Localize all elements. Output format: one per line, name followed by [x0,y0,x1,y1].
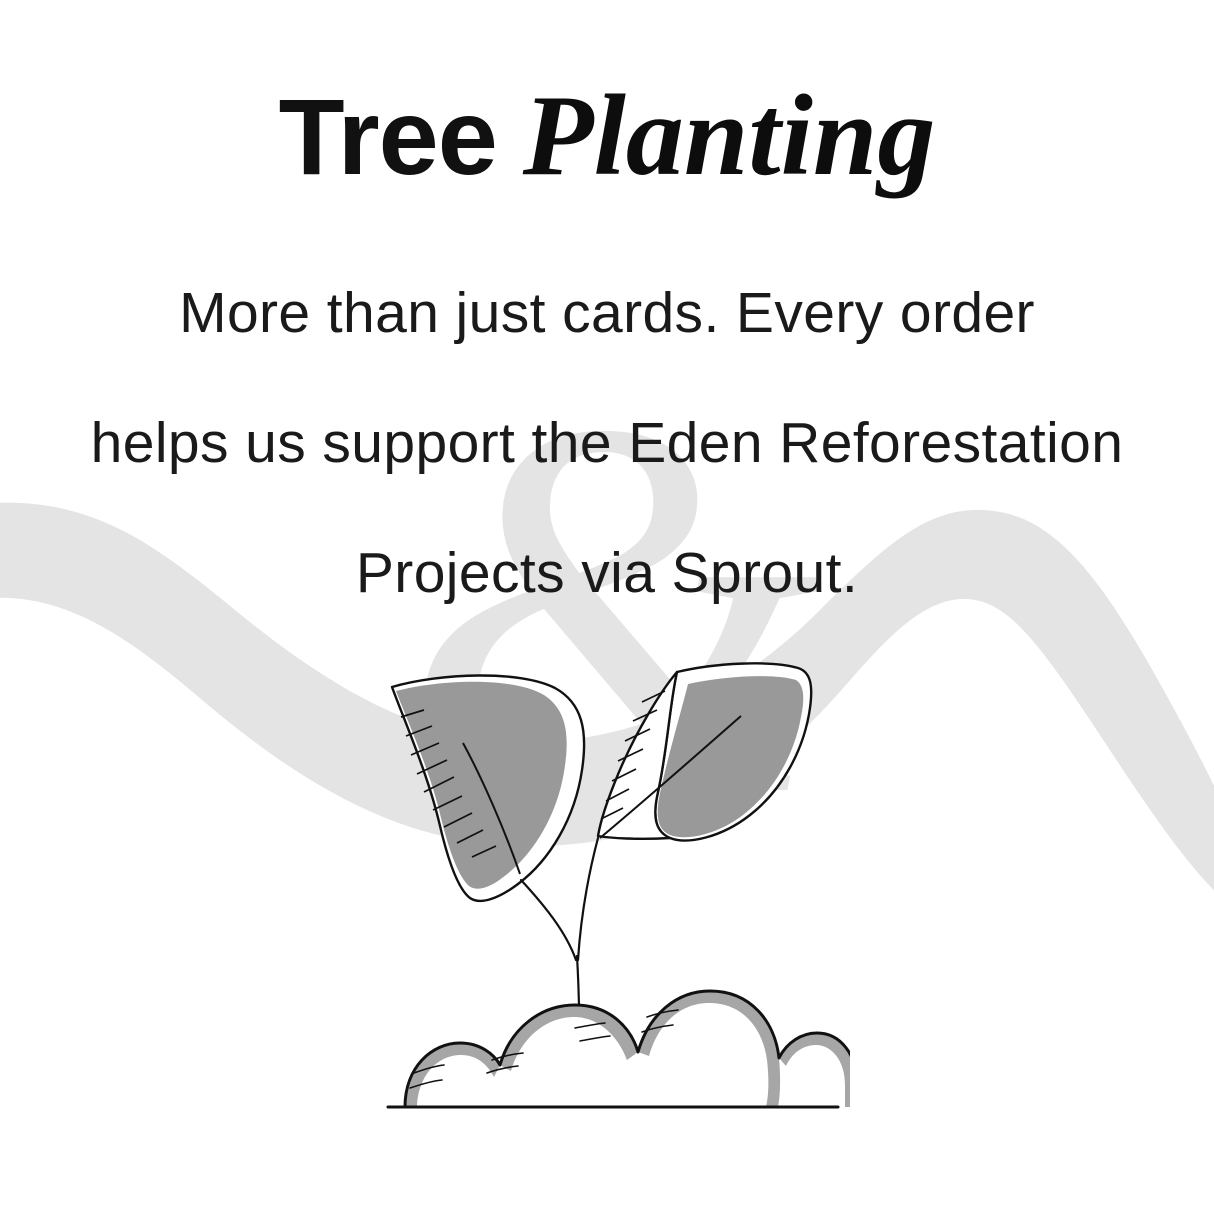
stem-branch-left [521,880,576,960]
body-line-1: More than just cards. Every order [0,248,1214,378]
title-word-italic: Planting [523,72,936,200]
tree-planting-promo-card: & TreePlanting More than just cards. Eve… [0,0,1214,1214]
body-line-2: helps us support the Eden Reforestation [0,378,1214,508]
title-word-bold: Tree [279,76,497,197]
soil-mound [405,991,850,1107]
left-leaf [392,675,584,900]
right-leaf [598,663,811,840]
body-copy: More than just cards. Every order helps … [0,248,1214,638]
stem-branch-right [578,838,598,960]
sprout-seedling-illustration [370,660,850,1120]
body-line-3: Projects via Sprout. [0,508,1214,638]
page-title: TreePlanting [0,78,1214,194]
